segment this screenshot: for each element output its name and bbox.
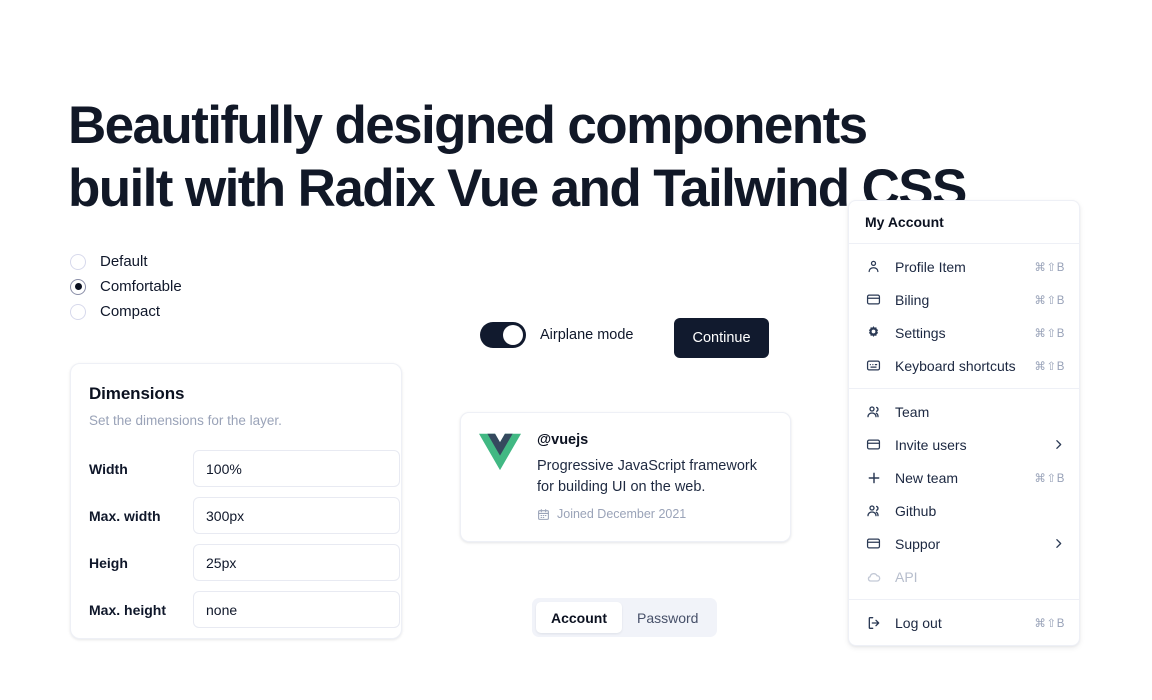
cloud-icon [865,568,882,585]
airplane-mode-row: Airplane mode [480,322,634,348]
settings-tabs: Account Password [532,598,717,637]
account-dropdown-menu: My Account Profile Item ⌘⇧B Biling [848,200,1080,646]
radio-label-comfortable: Comfortable [100,278,182,295]
credit-card-icon [865,291,882,308]
menu-group-account: Profile Item ⌘⇧B Biling ⌘⇧B [849,244,1079,388]
menu-item-label: Keyboard shortcuts [895,358,1034,374]
menu-item-label: Github [895,503,1065,519]
page-root: Beautifully designed components built wi… [0,0,1152,700]
continue-button[interactable]: Continue [674,318,769,358]
logout-icon [865,614,882,631]
switch-knob [503,325,523,345]
vue-hover-card: @vuejs Progressive JavaScript framework … [460,412,791,542]
menu-item-label: Log out [895,615,1034,631]
user-icon [865,258,882,275]
keyboard-icon [865,357,882,374]
field-label-width: Width [89,461,193,477]
menu-group-team: Team Invite users [849,389,1079,599]
users-icon [865,403,882,420]
chevron-right-icon [1052,438,1065,451]
hover-card-handle: @vuejs [537,432,777,448]
radio-option-default[interactable]: Default [70,249,182,274]
menu-item-label: Settings [895,325,1034,341]
menu-item-team[interactable]: Team [849,395,1079,428]
field-row-max-height: Max. height [89,586,383,633]
max-height-input[interactable] [193,591,400,628]
menu-item-settings[interactable]: Settings ⌘⇧B [849,316,1079,349]
height-input[interactable] [193,544,400,581]
menu-item-label: Invite users [895,437,1052,453]
dimensions-card: Dimensions Set the dimensions for the la… [70,363,402,639]
menu-item-shortcut: ⌘⇧B [1034,260,1065,274]
menu-item-label: New team [895,470,1034,486]
menu-item-support[interactable]: Suppor [849,527,1079,560]
menu-item-label: Biling [895,292,1034,308]
tab-account[interactable]: Account [536,602,622,633]
hover-card-description: Progressive JavaScript framework for bui… [537,456,777,498]
radio-label-default: Default [100,253,148,270]
chevron-right-icon [1052,537,1065,550]
menu-item-label: Suppor [895,536,1052,552]
field-row-width: Width [89,445,383,492]
menu-item-new-team[interactable]: New team ⌘⇧B [849,461,1079,494]
calendar-icon [537,508,550,521]
hover-card-joined-text: Joined December 2021 [557,507,686,521]
menu-item-label: API [895,569,1065,585]
users-icon [865,502,882,519]
menu-item-shortcut: ⌘⇧B [1034,359,1065,373]
field-label-max-width: Max. width [89,508,193,524]
credit-card-icon [865,436,882,453]
menu-item-shortcut: ⌘⇧B [1034,616,1065,630]
dimensions-fields: Width Max. width Heigh Max. height [89,445,383,633]
hover-card-body: @vuejs Progressive JavaScript framework … [537,431,777,541]
field-label-max-height: Max. height [89,602,193,618]
dimensions-card-description: Set the dimensions for the layer. [89,413,383,428]
menu-item-log-out[interactable]: Log out ⌘⇧B [849,606,1079,639]
gear-icon [865,324,882,341]
field-label-height: Heigh [89,555,193,571]
menu-item-shortcut: ⌘⇧B [1034,326,1065,340]
radio-option-compact[interactable]: Compact [70,299,182,324]
density-radio-group: Default Comfortable Compact [70,249,182,324]
menu-item-invite-users[interactable]: Invite users [849,428,1079,461]
menu-item-api: API [849,560,1079,593]
hover-card-joined: Joined December 2021 [537,507,777,521]
radio-option-comfortable[interactable]: Comfortable [70,274,182,299]
menu-header: My Account [849,201,1079,243]
page-title-line-1: Beautifully designed components [68,94,1028,157]
field-row-height: Heigh [89,539,383,586]
menu-item-label: Team [895,404,1065,420]
menu-item-label: Profile Item [895,259,1034,275]
menu-item-shortcut: ⌘⇧B [1034,471,1065,485]
menu-item-billing[interactable]: Biling ⌘⇧B [849,283,1079,316]
tab-password[interactable]: Password [622,602,713,633]
field-row-max-width: Max. width [89,492,383,539]
dimensions-card-title: Dimensions [89,384,383,404]
width-input[interactable] [193,450,400,487]
radio-indicator-default[interactable] [70,254,86,270]
airplane-mode-label: Airplane mode [540,327,634,343]
airplane-mode-switch[interactable] [480,322,526,348]
max-width-input[interactable] [193,497,400,534]
plus-icon [865,469,882,486]
menu-group-session: Log out ⌘⇧B [849,600,1079,645]
menu-item-github[interactable]: Github [849,494,1079,527]
credit-card-icon [865,535,882,552]
menu-item-shortcut: ⌘⇧B [1034,293,1065,307]
menu-item-keyboard-shortcuts[interactable]: Keyboard shortcuts ⌘⇧B [849,349,1079,382]
radio-indicator-compact[interactable] [70,304,86,320]
vue-logo-icon [479,433,521,541]
menu-item-profile[interactable]: Profile Item ⌘⇧B [849,250,1079,283]
radio-indicator-comfortable[interactable] [70,279,86,295]
radio-label-compact: Compact [100,303,160,320]
